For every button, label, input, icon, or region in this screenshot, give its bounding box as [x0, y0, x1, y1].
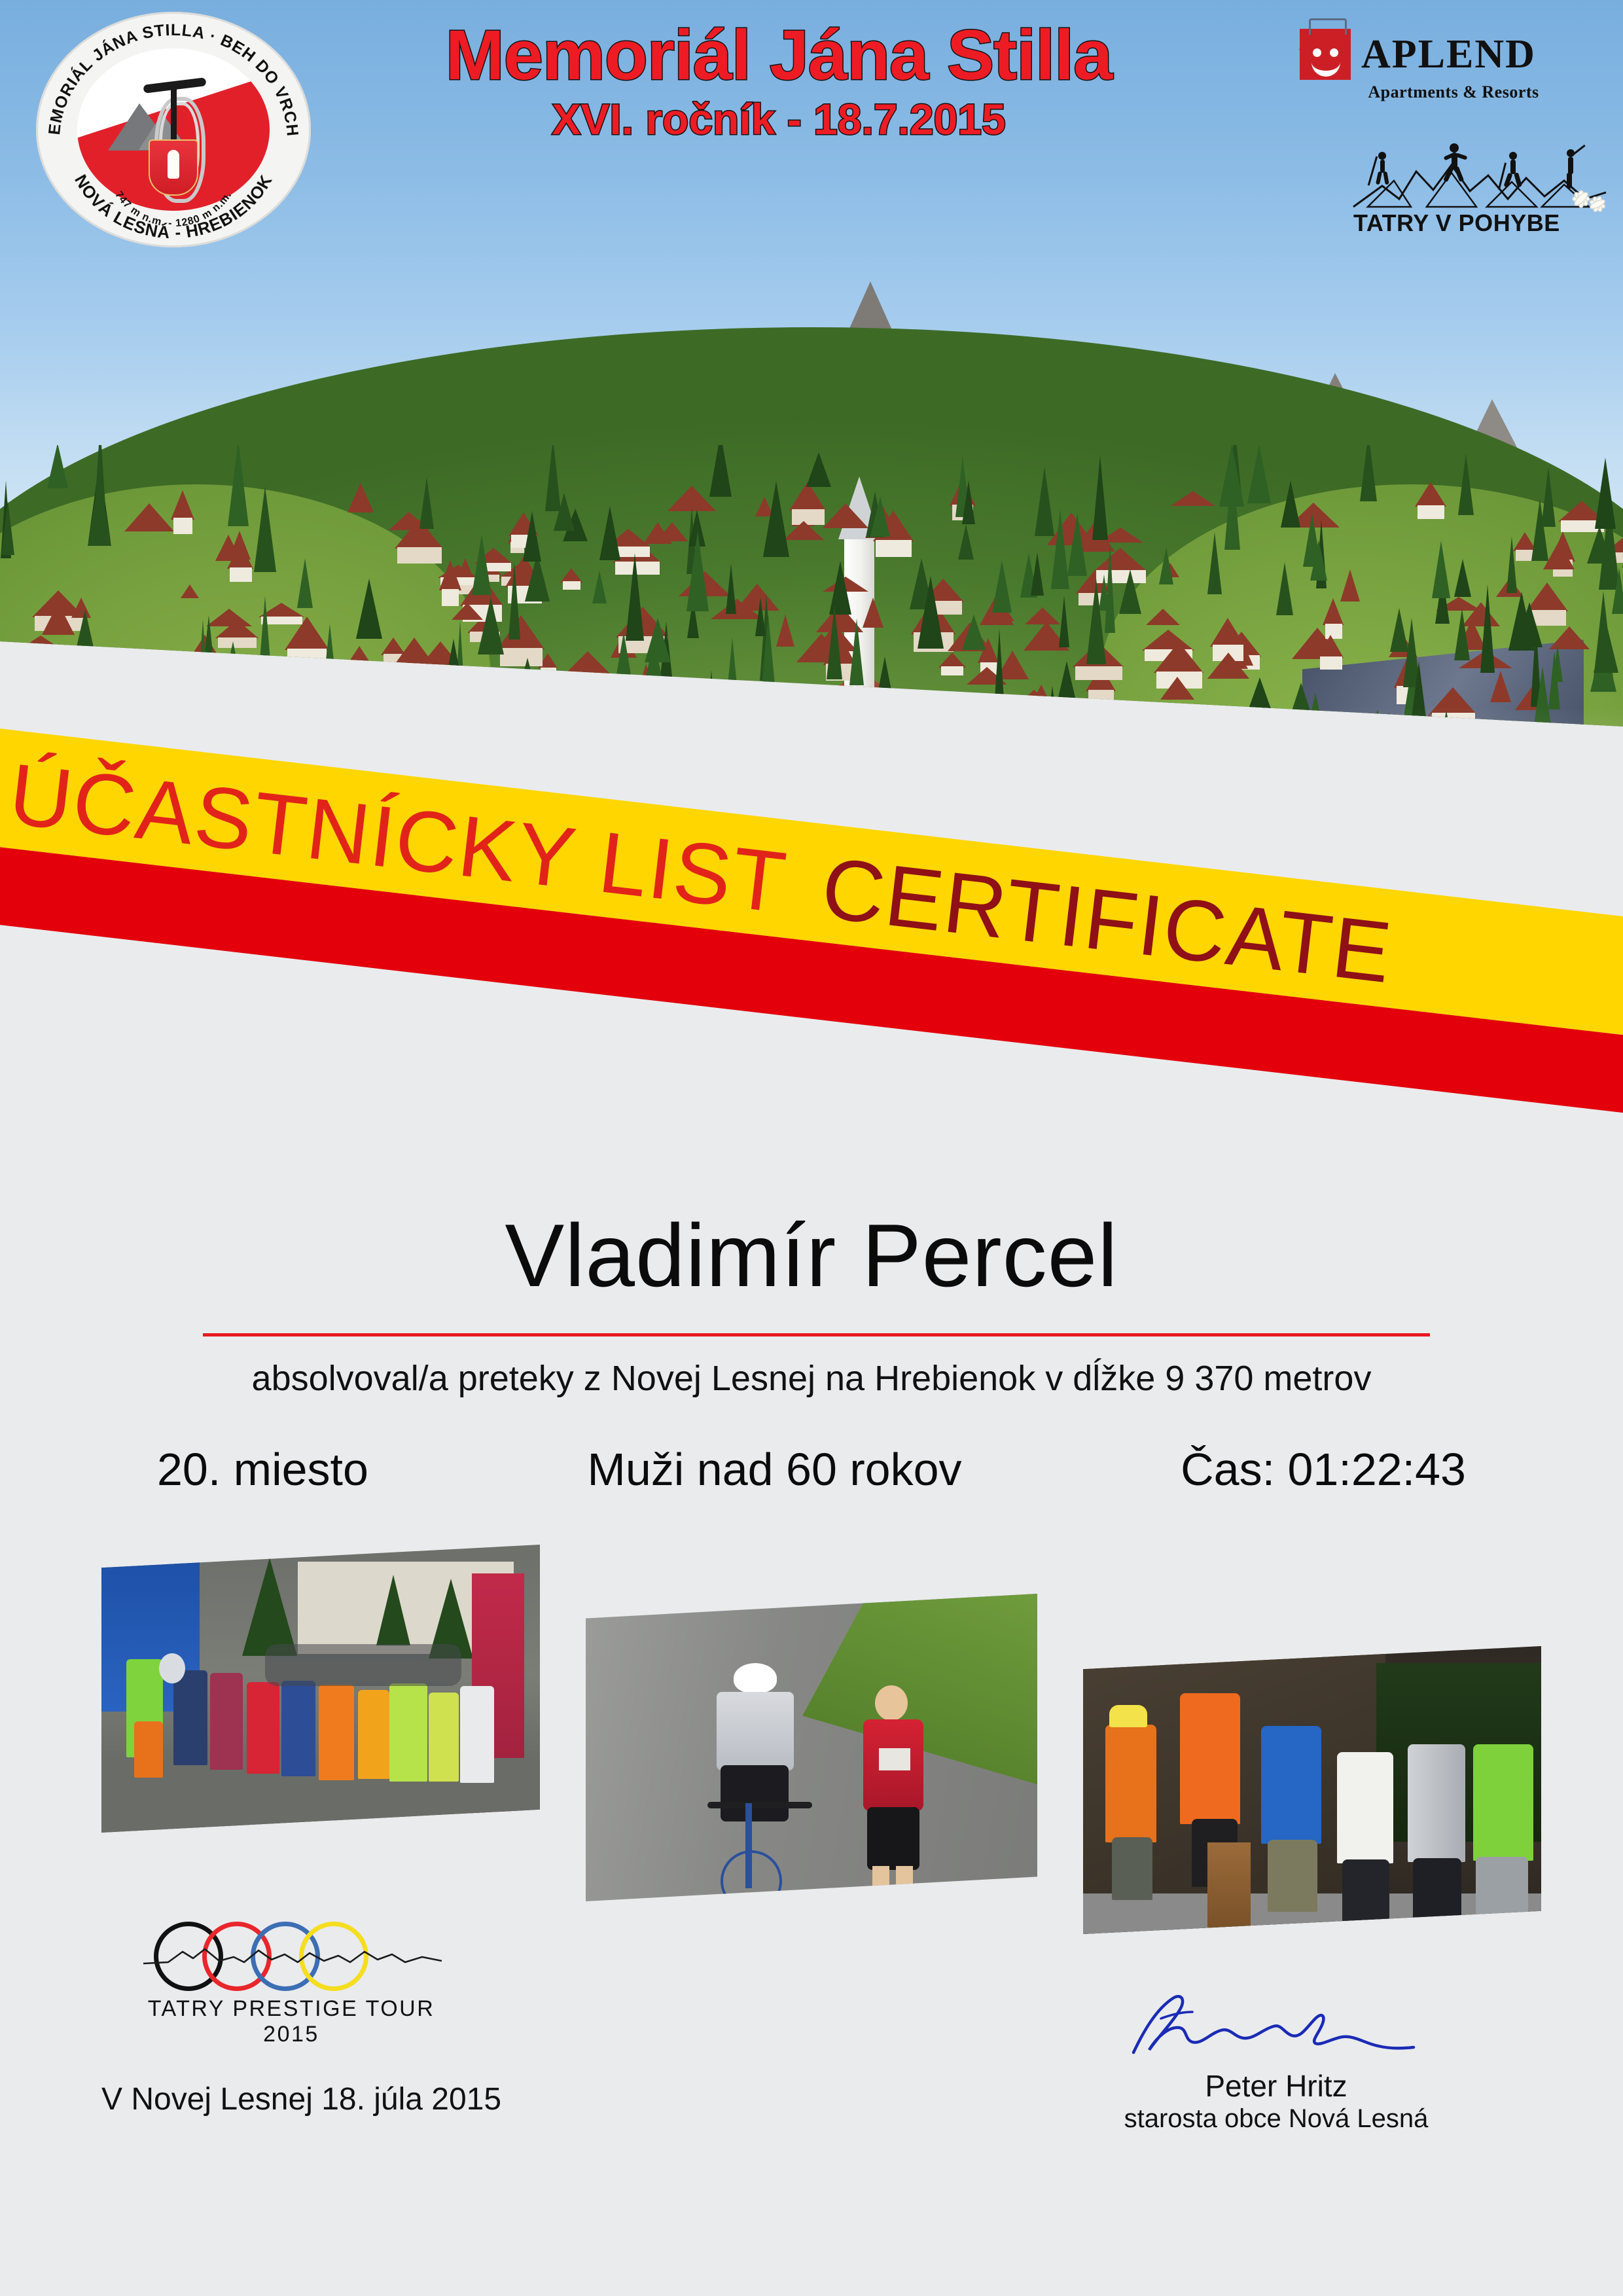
conifer-tree [98, 691, 114, 726]
conifer-tree [321, 624, 338, 703]
conifer-tree [1058, 661, 1076, 700]
house-roof [665, 715, 683, 738]
conifer-tree [1051, 509, 1069, 589]
results-row: 20. miesto Muži nad 60 rokov Čas: 01:22:… [157, 1443, 1466, 1496]
house-wall [798, 755, 839, 774]
house-roof [264, 709, 317, 732]
conifer-tree [1, 501, 14, 555]
house-wall [44, 715, 89, 730]
event-subtitle: XVI. ročník - 18.7.2015 [393, 94, 1165, 144]
conifer-tree [993, 629, 1005, 719]
conifer-tree [806, 452, 831, 487]
house-roof [497, 615, 544, 649]
conifer-tree [726, 564, 736, 614]
conifer-tree [1454, 609, 1470, 660]
conifer-tree [356, 579, 382, 639]
conifer-tree [763, 481, 789, 557]
conifer-tree [783, 690, 810, 762]
conifer-tree [1086, 579, 1106, 664]
house-roof [353, 745, 406, 763]
athlete-shorts [1268, 1840, 1317, 1912]
house-roof [524, 692, 552, 723]
conifer-tree [709, 445, 732, 497]
house-roof [1547, 751, 1580, 772]
house-roof [347, 646, 372, 665]
house-wall [1418, 505, 1444, 519]
conifer-tree [1159, 547, 1173, 584]
house-wall [566, 675, 611, 689]
house-wall [206, 685, 245, 694]
house-roof [1317, 635, 1344, 658]
conifer-tree [256, 632, 276, 695]
conifer-tree [827, 605, 842, 679]
conifer-tree [228, 445, 249, 526]
house-wall [1243, 737, 1265, 754]
conifer-tree [643, 689, 654, 772]
result-time: Čas: 01:22:43 [1181, 1443, 1466, 1496]
municipal-coat-of-arms-icon [149, 139, 198, 196]
house-roof [439, 560, 461, 590]
conifer-tree [611, 632, 637, 709]
house-wall [514, 696, 537, 708]
conifer-tree [1410, 661, 1428, 733]
conifer-tree [626, 553, 644, 641]
conifer-tree [1247, 677, 1273, 714]
conifer-tree [1276, 562, 1293, 615]
conifer-tree [472, 535, 491, 595]
signatory-role: starosta obce Nová Lesná [1106, 2104, 1446, 2134]
place-and-date: V Novej Lesnej 18. júla 2015 [101, 2081, 501, 2117]
runner [210, 1673, 243, 1770]
village-houses [0, 445, 1623, 785]
house-wall [1402, 779, 1417, 785]
conifer-tree [198, 619, 208, 697]
house-wall [541, 668, 556, 676]
aplend-sponsor-logo: APLEND Apartments & Resorts [1300, 29, 1607, 102]
conifer-tree [958, 524, 974, 560]
conifer-tree [72, 609, 98, 668]
conifer-tree [847, 726, 866, 776]
house-wall [1550, 771, 1578, 783]
house-wall [1062, 757, 1095, 771]
conifer-tree [1046, 686, 1059, 734]
house-roof [491, 679, 509, 698]
conifer-tree [1119, 569, 1141, 614]
house-roof [590, 744, 619, 774]
conifer-tree [398, 727, 418, 782]
house-wall [876, 540, 912, 557]
house-wall [1057, 761, 1092, 777]
conifer-tree [554, 493, 575, 531]
conifer-tree [1222, 725, 1232, 761]
conifer-tree [874, 656, 896, 713]
house-roof [348, 483, 374, 512]
conifer-tree [1207, 532, 1222, 594]
house-wall [563, 581, 580, 589]
conifer-tree [95, 445, 105, 506]
conifer-tree [508, 562, 520, 639]
olympic-style-rings [154, 1918, 429, 1990]
house-roof [1171, 491, 1215, 506]
house-roof [1207, 757, 1243, 783]
house-roof [1411, 727, 1452, 750]
house-wall [173, 518, 192, 534]
signature-icon [1106, 1990, 1446, 2062]
conifer-tree [727, 637, 738, 692]
conifer-tree [656, 700, 677, 742]
house-roof [14, 636, 67, 653]
conifer-tree [113, 651, 131, 687]
house-wall [68, 704, 86, 717]
spectator [1473, 1744, 1533, 1861]
conifer-tree [956, 717, 974, 785]
house-roof [1146, 609, 1180, 625]
house-roof [42, 603, 75, 635]
conifer-tree [1552, 645, 1563, 682]
seal-emblem [77, 48, 270, 211]
house-wall [1462, 780, 1478, 785]
conifer-tree [918, 576, 944, 649]
conifer-tree [592, 571, 607, 603]
house-roof [906, 734, 938, 753]
conifer-tree [936, 700, 948, 745]
house-wall [1421, 729, 1438, 738]
house-roof [795, 724, 841, 757]
runner [281, 1681, 315, 1776]
conifer-tree [642, 642, 666, 692]
house-roof [1201, 735, 1235, 762]
house-wall [606, 719, 635, 727]
house-wall [1033, 706, 1051, 718]
house-wall [1075, 772, 1118, 780]
handlebars [707, 1802, 812, 1808]
house-wall [397, 547, 442, 564]
conifer-tree [755, 598, 766, 636]
runner [429, 1693, 459, 1782]
house-roof [124, 503, 174, 531]
conifer-tree [1594, 622, 1618, 673]
conifer-tree [1303, 693, 1328, 749]
aplend-wordmark: APLEND [1361, 34, 1536, 75]
conifer-tree [1303, 513, 1321, 567]
conifer-tree [478, 597, 504, 655]
house-roof [171, 490, 194, 520]
house-roof [1459, 762, 1480, 781]
house-roof [1240, 708, 1268, 739]
house-roof [1490, 671, 1511, 702]
conifer-tree [442, 639, 465, 698]
conifer-tree [962, 480, 975, 524]
conifer-tree [412, 667, 425, 726]
house-roof [1207, 653, 1249, 679]
conifer-tree [1031, 552, 1044, 596]
event-seal-logo: MEMORIÁL JÁNA STILLA · BEH DO VRCHU NOVÁ… [36, 12, 311, 247]
conifer-tree [1059, 596, 1069, 647]
conifer-tree [1092, 456, 1108, 540]
house-roof [1060, 732, 1097, 758]
house-roof [228, 531, 251, 560]
conifer-tree [342, 715, 355, 753]
conifer-tree [47, 445, 68, 488]
podium-ceremony-photo [1083, 1646, 1541, 1934]
event-title: Memoriál Jána Stilla [393, 18, 1165, 92]
conifer-tree [599, 506, 620, 560]
conifer-tree [517, 658, 538, 697]
conifer-tree [1612, 567, 1623, 614]
house-roof [1210, 618, 1245, 647]
house-roof [938, 653, 966, 668]
trophy-plaque [1207, 1842, 1251, 1928]
house-roof [823, 503, 868, 528]
village-pond [731, 739, 872, 785]
athlete [1261, 1726, 1321, 1844]
conifer-tree [1219, 445, 1244, 507]
conifer-tree [704, 670, 719, 760]
house-roof [204, 668, 247, 685]
roof-shape [1298, 30, 1332, 50]
conifer-tree [1381, 712, 1397, 745]
runner-shorts [867, 1807, 919, 1870]
house-roof [1154, 642, 1204, 673]
tree [376, 1575, 410, 1645]
conifer-tree [254, 486, 276, 572]
conifer-tree [515, 691, 539, 749]
conifer-tree [182, 666, 195, 705]
house-wall [941, 666, 964, 675]
conifer-tree [849, 619, 864, 685]
conifer-tree [859, 715, 873, 768]
house-roof [512, 675, 539, 697]
house-roof [117, 697, 163, 717]
house-roof [1340, 569, 1360, 601]
certificate-page: MEMORIÁL JÁNA STILLA · BEH DO VRCHU NOVÁ… [0, 0, 1623, 2296]
house-roof [1160, 677, 1194, 700]
house-wall [530, 769, 561, 781]
house-wall [1088, 690, 1114, 704]
house-wall [575, 698, 613, 716]
house-wall [419, 669, 463, 685]
conifer-tree [1360, 445, 1377, 501]
result-category: Muži nad 60 rokov [588, 1443, 962, 1496]
house-roof [239, 723, 266, 750]
house-wall [230, 567, 251, 582]
conifer-tree [242, 675, 267, 742]
race-bib [879, 1748, 910, 1770]
conifer-tree [220, 675, 236, 722]
house-wall [1320, 656, 1342, 669]
mayor-signature [1106, 1990, 1446, 2062]
signatory-name: Peter Hritz [1106, 2068, 1446, 2104]
runner [460, 1686, 494, 1783]
runner [134, 1721, 163, 1778]
conifer-tree [1433, 710, 1459, 782]
house-roof [1487, 757, 1505, 782]
house-roof [1155, 758, 1183, 783]
house-roof [183, 702, 213, 728]
runner [173, 1670, 207, 1765]
cyclist-shorts [721, 1765, 789, 1821]
house-roof [1399, 761, 1419, 780]
house-wall [1198, 733, 1222, 747]
mountain-sports-icon [1348, 139, 1610, 217]
house-wall [1414, 749, 1450, 761]
house-roof [1054, 735, 1094, 763]
conifer-tree [870, 496, 890, 537]
runner [247, 1682, 279, 1774]
conifer-tree [4, 662, 27, 723]
church-nave [811, 707, 910, 785]
conifer-tree [1382, 722, 1406, 785]
house-roof [669, 759, 692, 780]
house-roof [572, 669, 615, 700]
cap-icon [1109, 1705, 1147, 1727]
house-roof [783, 521, 824, 540]
conifer-tree [1541, 467, 1556, 527]
house-wall [1075, 666, 1122, 680]
runner-leg [872, 1866, 889, 1896]
house-roof [631, 691, 681, 705]
cyclist-helmet [734, 1663, 777, 1693]
photo-strip [0, 1525, 1623, 1918]
mountain-sketch-icon [142, 1946, 443, 1970]
house-roof [863, 598, 883, 628]
conifer-tree [687, 531, 709, 611]
mass-start-photo [101, 1545, 540, 1833]
runner [319, 1685, 354, 1780]
house-wall [1204, 761, 1232, 776]
cyclist-jersey [717, 1692, 794, 1770]
house-roof [346, 715, 390, 734]
house-roof [1099, 728, 1150, 752]
conifer-tree [352, 664, 366, 721]
house-smiley-icon [1300, 29, 1351, 80]
house-roof [1025, 607, 1060, 624]
conifer-tree [1480, 584, 1495, 673]
house-roof [1213, 712, 1231, 727]
name-underline-rule [203, 1333, 1430, 1336]
house-roof [527, 747, 563, 770]
conifer-tree [1507, 536, 1517, 593]
tatry-prestige-tour-logo: TATRY PRESTIGE TOUR 2015 [154, 1918, 429, 2042]
tree [242, 1558, 297, 1656]
spectator [1408, 1744, 1465, 1862]
house-roof [317, 724, 340, 747]
house-roof [1415, 482, 1446, 507]
house-roof [1073, 758, 1120, 773]
conifer-tree [992, 560, 1012, 613]
cyclist-and-runner-photo [586, 1594, 1037, 1901]
runner-head [159, 1653, 185, 1683]
conifer-tree [1247, 445, 1271, 503]
house-wall [404, 668, 439, 678]
conifer-tree [598, 693, 620, 755]
conifer-tree [962, 615, 986, 650]
conifer-tree [225, 641, 241, 679]
spectator [1337, 1752, 1393, 1863]
conifer-tree [1251, 698, 1274, 734]
house-roof [603, 704, 636, 719]
house-wall [1210, 782, 1241, 785]
participant-name: Vladimír Percel [0, 1204, 1623, 1306]
tatry-v-pohybe-logo: TATRY V POHYBE [1348, 139, 1610, 237]
conifer-tree [1516, 602, 1543, 647]
result-place: 20. miesto [157, 1443, 368, 1496]
smile-shape [1311, 56, 1340, 77]
athlete [1105, 1725, 1156, 1842]
race-description: absolvoval/a preteky z Novej Lesnej na H… [0, 1358, 1623, 1399]
conifer-tree [1595, 457, 1616, 529]
event-title-block: Memoriál Jána Stilla XVI. ročník - 18.7.… [393, 18, 1165, 144]
house-wall [593, 773, 617, 785]
conifer-tree [1107, 700, 1132, 779]
house-roof [1195, 709, 1225, 734]
runner [389, 1683, 427, 1782]
conifer-tree [1281, 480, 1300, 528]
conifer-tree [568, 742, 579, 785]
tatry-prestige-tour-label: TATRY PRESTIGE TOUR 2015 [134, 1996, 448, 2047]
house-roof [776, 615, 794, 647]
spectator-trousers [1476, 1857, 1528, 1926]
house-roof [560, 568, 582, 583]
house-roof [215, 620, 259, 638]
runner-head [875, 1685, 908, 1721]
runner-leg [896, 1866, 913, 1896]
conifer-tree [419, 477, 434, 529]
conifer-tree [1105, 543, 1115, 633]
conifer-tree [523, 511, 541, 562]
house-roof [1323, 598, 1344, 625]
conifer-tree [1432, 541, 1450, 598]
conifer-tree [1365, 709, 1390, 762]
conifer-tree [1458, 454, 1474, 515]
conifer-tree [297, 558, 313, 608]
house-wall [493, 698, 508, 709]
spectator-trousers [1342, 1859, 1389, 1929]
house-wall [1215, 726, 1229, 735]
athlete-shorts [1112, 1837, 1152, 1900]
spectator-trousers [1413, 1858, 1461, 1929]
house-roof [557, 694, 591, 728]
aplend-tagline: Apartments & Resorts [1300, 82, 1607, 102]
conifer-tree [1454, 559, 1471, 597]
house-roof [181, 584, 199, 598]
crowd-mass [265, 1644, 461, 1686]
conifer-tree [1067, 513, 1087, 576]
runner [358, 1690, 389, 1779]
house-wall [348, 733, 388, 744]
house-roof [401, 651, 440, 669]
tatry-v-pohybe-label: TATRY V POHYBE [1353, 209, 1560, 237]
house-roof [65, 680, 88, 705]
house-wall [319, 746, 339, 759]
house-roof [41, 688, 91, 716]
conifer-tree [49, 691, 69, 725]
conifer-tree [369, 684, 383, 772]
athlete [1180, 1693, 1240, 1824]
